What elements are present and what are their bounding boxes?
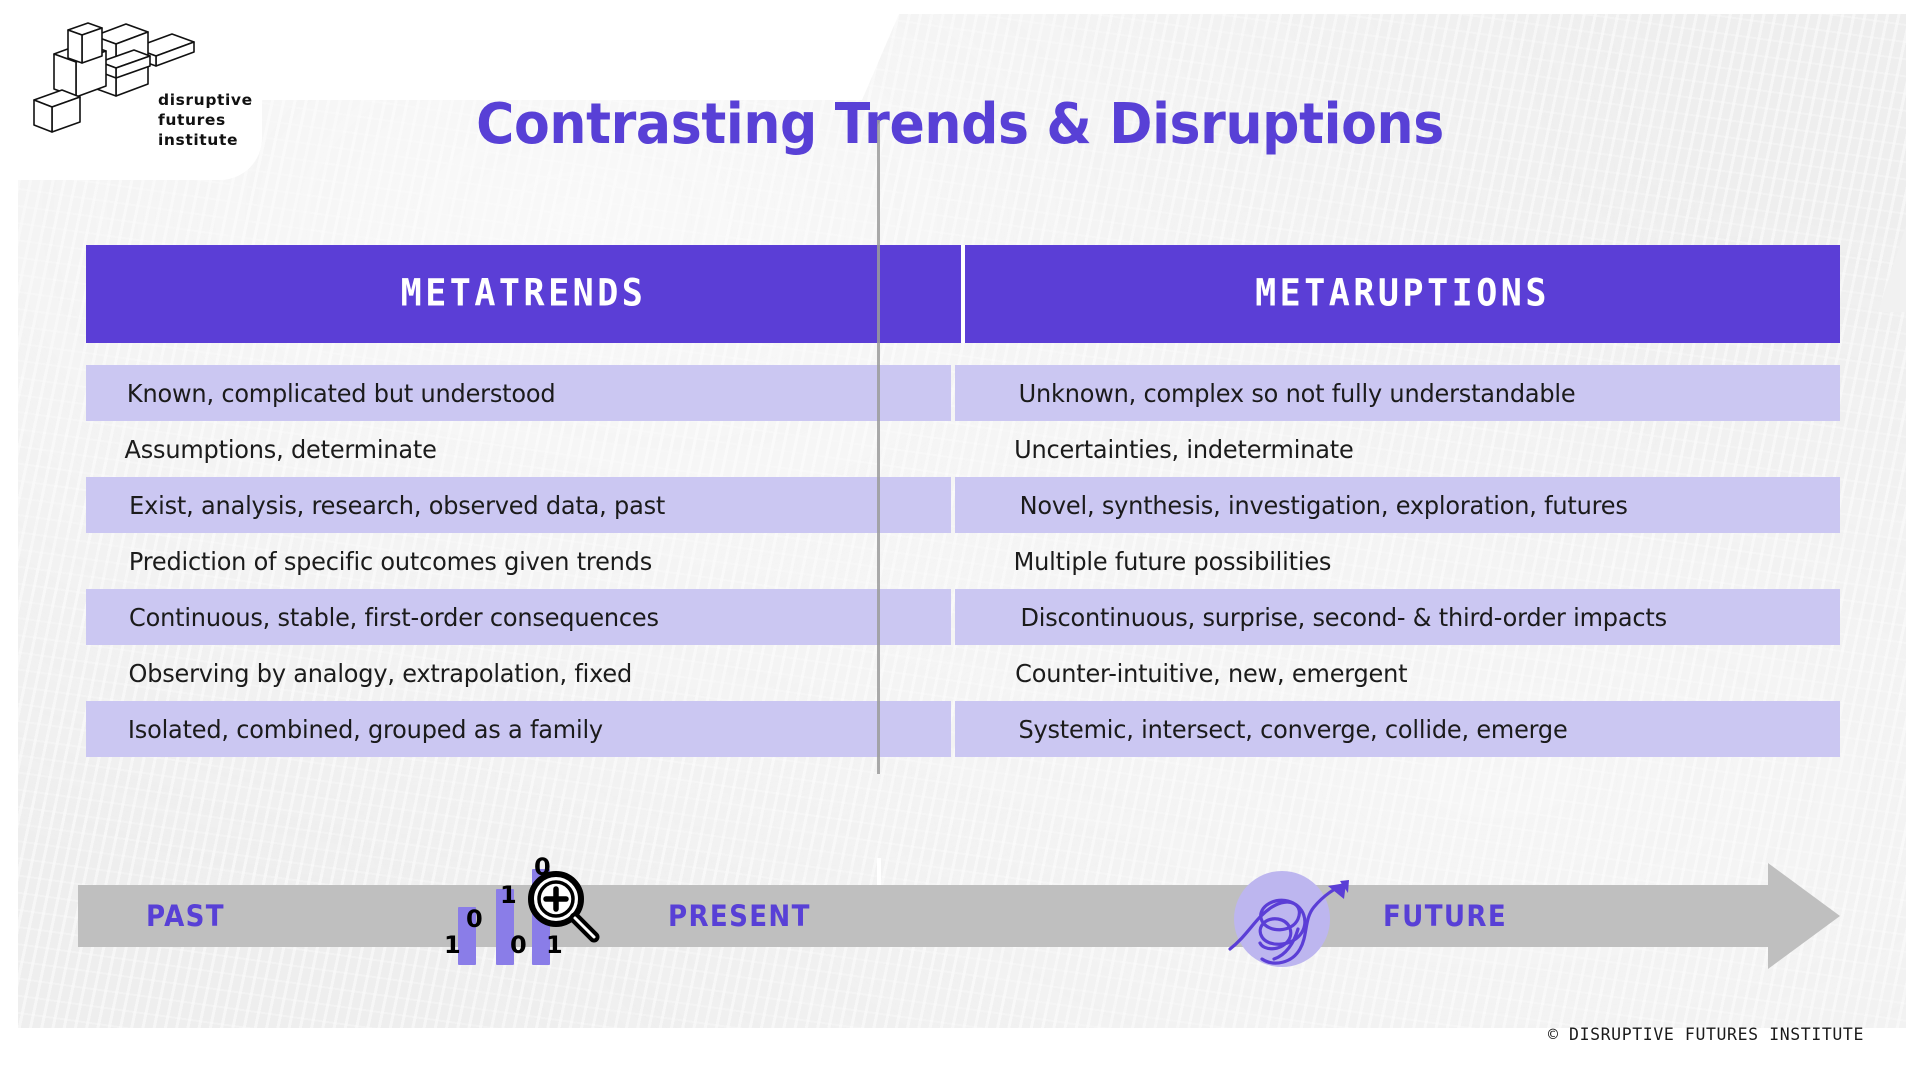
cell-text: Counter-intuitive, new, emergent (1015, 659, 1407, 688)
cell-metatrend: Exist, analysis, research, observed data… (86, 477, 951, 533)
table-row[interactable]: Exist, analysis, research, observed data… (86, 477, 1840, 533)
timeline-bar (78, 885, 1778, 947)
top-white-strip (0, 0, 1920, 14)
cell-metaruption: Uncertainties, indeterminate (955, 421, 1840, 477)
table-header-metatrends: METATRENDS (86, 242, 961, 346)
cell-metatrend: Assumptions, determinate (86, 421, 951, 477)
binary-digit: 1 (444, 931, 461, 959)
table-row[interactable]: Prediction of specific outcomes given tr… (86, 533, 1840, 589)
cell-metaruption: Novel, synthesis, investigation, explora… (955, 477, 1840, 533)
table-header-metaruptions: METARUPTIONS (965, 242, 1840, 346)
cell-text: Multiple future possibilities (1014, 547, 1332, 576)
timeline-arrow-icon (1768, 863, 1840, 969)
timeline-label-present: PRESENT (668, 885, 811, 947)
cell-text: Known, complicated but understood (127, 379, 555, 408)
timeline: PAST PRESENT FUTURE 1 0 1 0 0 1 (78, 885, 1848, 947)
timeline-label-past: PAST (146, 885, 225, 947)
header-body-gap (86, 343, 1840, 365)
cell-text: Uncertainties, indeterminate (1014, 435, 1353, 464)
cell-text: Unknown, complex so not fully understand… (1019, 379, 1576, 408)
cell-metatrend: Isolated, combined, grouped as a family (86, 701, 951, 757)
cell-text: Discontinuous, surprise, second- & third… (1020, 603, 1666, 632)
cell-metatrend: Continuous, stable, first-order conseque… (86, 589, 951, 645)
cell-metaruption: Counter-intuitive, new, emergent (955, 645, 1840, 701)
cell-text: Isolated, combined, grouped as a family (128, 715, 603, 744)
magnifier-plus-icon (524, 867, 604, 947)
cell-metaruption: Unknown, complex so not fully understand… (955, 365, 1840, 421)
slide-canvas: disruptive futures institute Contrasting… (0, 0, 1920, 1080)
cell-text: Exist, analysis, research, observed data… (129, 491, 665, 520)
cell-text: Novel, synthesis, investigation, explora… (1020, 491, 1628, 520)
right-white-margin (1906, 0, 1920, 1080)
cell-metatrend: Known, complicated but understood (86, 365, 951, 421)
binary-digit: 0 (466, 905, 483, 933)
cell-metatrend: Prediction of specific outcomes given tr… (86, 533, 951, 589)
column-divider (877, 120, 880, 774)
cell-text: Systemic, intersect, converge, collide, … (1018, 715, 1567, 744)
table-row[interactable]: Observing by analogy, extrapolation, fix… (86, 645, 1840, 701)
cell-text: Continuous, stable, first-order conseque… (129, 603, 659, 632)
cell-metaruption: Systemic, intersect, converge, collide, … (955, 701, 1840, 757)
bar-chart-magnifier-icon: 1 0 1 0 0 1 (448, 845, 578, 975)
copyright-notice: © DISRUPTIVE FUTURES INSTITUTE (1548, 1025, 1864, 1044)
cell-text: Observing by analogy, extrapolation, fix… (128, 659, 632, 688)
timeline-label-future: FUTURE (1383, 885, 1507, 947)
comparison-table: METATRENDS METARUPTIONS Known, complicat… (86, 245, 1840, 757)
tangled-arrow-icon (1218, 863, 1368, 975)
page-title: Contrasting Trends & Disruptions (67, 92, 1853, 157)
cell-metaruption: Multiple future possibilities (955, 533, 1840, 589)
table-row[interactable]: Assumptions, determinate Uncertainties, … (86, 421, 1840, 477)
table-row[interactable]: Isolated, combined, grouped as a family … (86, 701, 1840, 757)
table-row[interactable]: Known, complicated but understood Unknow… (86, 365, 1840, 421)
cell-text: Assumptions, determinate (125, 435, 437, 464)
binary-digit: 1 (500, 881, 517, 909)
table-row[interactable]: Continuous, stable, first-order conseque… (86, 589, 1840, 645)
table-header-row: METATRENDS METARUPTIONS (86, 245, 1840, 343)
cell-metaruption: Discontinuous, surprise, second- & third… (955, 589, 1840, 645)
cell-text: Prediction of specific outcomes given tr… (129, 547, 652, 576)
cell-metatrend: Observing by analogy, extrapolation, fix… (86, 645, 951, 701)
